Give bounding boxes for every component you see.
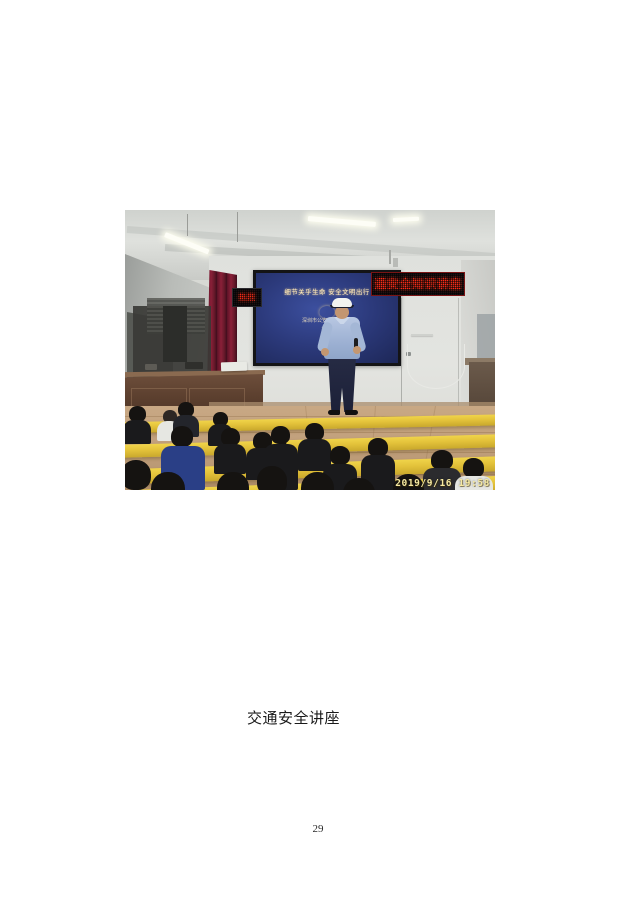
door-handle-rail <box>411 334 433 336</box>
officer-shoe <box>328 410 340 415</box>
desk-equipment <box>185 362 203 369</box>
projector <box>221 362 247 372</box>
officer-hand <box>353 346 361 354</box>
audience-head <box>271 426 290 444</box>
light-wire <box>237 212 238 242</box>
audience-head <box>257 466 287 490</box>
ceiling-microphone <box>389 250 391 264</box>
officer-shoe <box>345 410 358 415</box>
desk-equipment <box>145 364 157 370</box>
document-page: 细节关乎生命 安全文明出行 深圳市公安局交通警察 梁xx 热烈 通安全知识讲座 <box>0 0 636 900</box>
audience-body <box>125 420 151 444</box>
figure-block: 细节关乎生命 安全文明出行 深圳市公安局交通警察 梁xx 热烈 通安全知识讲座 <box>125 210 495 490</box>
led-banner-right: 通安全知识讲座 <box>371 272 465 296</box>
page-number: 29 <box>0 823 636 835</box>
speaker-cabinet <box>163 306 187 362</box>
audience-body <box>214 444 246 474</box>
officer-trousers <box>328 357 356 412</box>
officer-hand <box>321 348 329 356</box>
hanging-cable <box>407 344 465 389</box>
figure-caption: 交通安全讲座 <box>247 708 340 729</box>
light-wire <box>187 214 188 236</box>
police-officer-speaker <box>320 298 364 418</box>
lecture-hall-scene: 细节关乎生命 安全文明出行 深圳市公安局交通警察 梁xx 热烈 通安全知识讲座 <box>125 210 495 490</box>
wall-switch-box <box>393 258 398 267</box>
right-wall-panel <box>477 314 495 362</box>
audience-head <box>463 458 484 478</box>
led-banner-left: 热烈 <box>232 288 262 307</box>
traffic-safety-lecture-photo: 细节关乎生命 安全文明出行 深圳市公安局交通警察 梁xx 热烈 通安全知识讲座 <box>125 210 495 490</box>
officer-cap <box>332 298 352 307</box>
audience-head <box>330 446 350 465</box>
audience-head <box>125 460 151 490</box>
audience-head <box>431 450 453 470</box>
